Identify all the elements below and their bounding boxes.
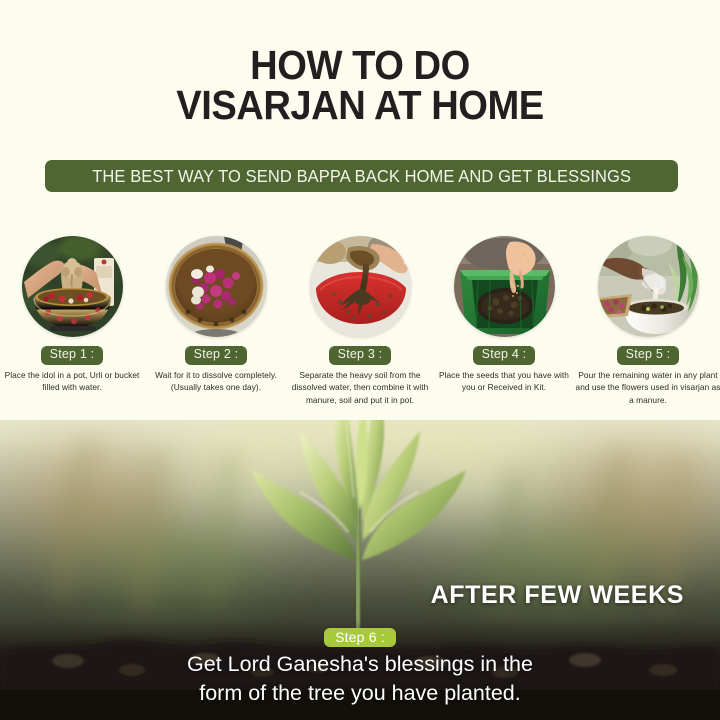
- title-line-1: HOW TO DO: [25, 46, 695, 86]
- final-line-1: Get Lord Ganesha's blessings in the: [0, 650, 720, 679]
- step-card-4: Step 4 : Place the seeds that you have w…: [432, 236, 576, 411]
- step-description-1: Place the idol in a pot, Urli or bucket …: [3, 369, 141, 394]
- straining-soil-red-cloth-photo: [310, 236, 411, 337]
- step-card-5: Step 5 : Pour the remaining water in any…: [576, 236, 720, 411]
- step-6-badge-wrap: Step 6 :: [0, 628, 720, 647]
- step-badge-4: Step 4 :: [473, 346, 536, 365]
- step-badge-1: Step 1 :: [41, 346, 104, 365]
- infographic-poster: HOW TO DO VISARJAN AT HOME THE BEST WAY …: [0, 0, 720, 720]
- step-badge-5: Step 5 :: [617, 346, 680, 365]
- header-section: HOW TO DO VISARJAN AT HOME THE BEST WAY …: [0, 0, 720, 420]
- title-line-2: VISARJAN AT HOME: [25, 86, 695, 126]
- sowing-seeds-grow-bag-photo: [454, 236, 555, 337]
- steps-row: Step 1 : Place the idol in a pot, Urli o…: [0, 236, 720, 411]
- final-line-2: form of the tree you have planted.: [0, 679, 720, 708]
- step-badge-3: Step 3 :: [329, 346, 392, 365]
- final-message: Get Lord Ganesha's blessings in the form…: [0, 650, 720, 708]
- step-description-5: Pour the remaining water in any plant an…: [574, 369, 720, 406]
- step-description-3: Separate the heavy soil from the dissolv…: [286, 369, 434, 406]
- idol-in-urli-photo: [22, 236, 123, 337]
- subtitle-text: THE BEST WAY TO SEND BAPPA BACK HOME AND…: [92, 166, 631, 187]
- step-description-2: Wait for it to dissolve completely. (Usu…: [147, 369, 285, 394]
- step-badge-2: Step 2 :: [185, 346, 248, 365]
- step-badge-6: Step 6 :: [324, 628, 396, 647]
- subtitle-banner: THE BEST WAY TO SEND BAPPA BACK HOME AND…: [45, 160, 678, 192]
- step-card-3: Step 3 : Separate the heavy soil from th…: [288, 236, 432, 411]
- watering-plant-pot-photo: [598, 236, 699, 337]
- step-description-4: Place the seeds that you have with you o…: [435, 369, 573, 394]
- page-title: HOW TO DO VISARJAN AT HOME: [25, 46, 695, 126]
- after-few-weeks-label: AFTER FEW WEEKS: [431, 581, 684, 610]
- step-card-2: Step 2 : Wait for it to dissolve complet…: [144, 236, 288, 411]
- step-card-1: Step 1 : Place the idol in a pot, Urli o…: [0, 236, 144, 411]
- dissolved-idol-bowl-photo: [166, 236, 267, 337]
